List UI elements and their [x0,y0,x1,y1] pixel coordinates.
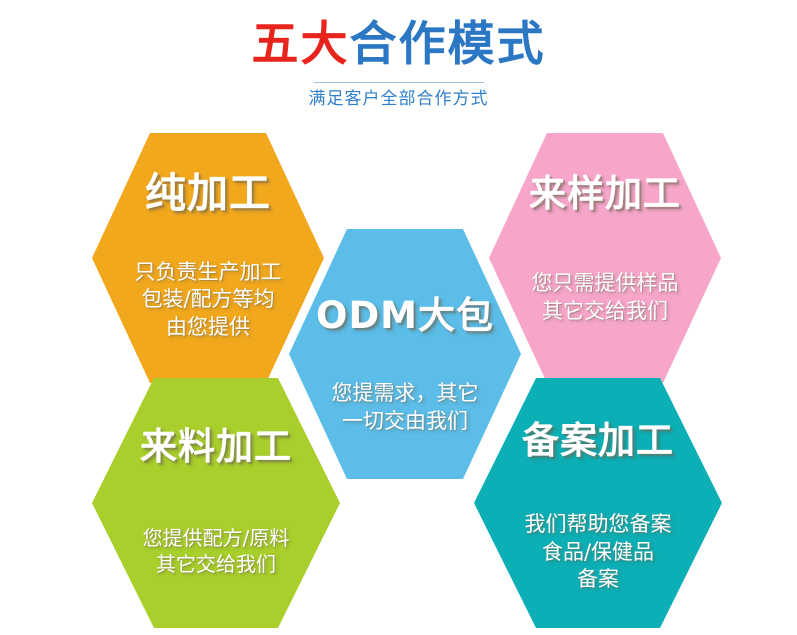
page-title-rest: 合作模式 [350,17,546,72]
hex-title-record-filing-processing: 备案加工 [522,420,674,461]
hex-title-material-processing: 来料加工 [140,426,292,467]
hex-body-line: 只负责生产加工 [135,259,282,286]
hex-body-line: 您提需求，其它 [332,380,479,407]
hex-body-pure-processing: 只负责生产加工 包装/配方等均 由您提供 [135,259,282,341]
hex-body-line: 一切交由我们 [332,408,479,435]
hex-card-material-processing[interactable]: 来料加工 您提供配方/原料 其它交给我们 [92,378,340,628]
infographic-canvas: 五大合作模式 满足客户全部合作方式 纯加工 只负责生产加工 包装/配方等均 由您… [0,0,797,635]
hex-body-line: 食品/保健品 [525,539,672,566]
title-divider [314,82,484,83]
hex-card-sample-processing[interactable]: 来样加工 您只需提供样品 其它交给我们 [489,133,721,383]
hex-body-line: 我们帮助您备案 [525,511,672,538]
hex-body-line: 您只需提供样品 [532,270,679,297]
header: 五大合作模式 满足客户全部合作方式 [0,0,797,111]
hex-body-line: 由您提供 [135,314,282,341]
hex-body-line: 包装/配方等均 [135,286,282,313]
hex-body-record-filing-processing: 我们帮助您备案 食品/保健品 备案 [525,511,672,593]
hex-title-odm-full-package: ODM大包 [316,295,494,336]
hex-body-line: 您提供配方/原料 [143,525,290,551]
hex-body-line: 其它交给我们 [143,551,290,577]
hex-body-odm-full-package: 您提需求，其它 一切交由我们 [332,380,479,435]
page-title: 五大合作模式 [0,0,797,76]
hex-card-odm-full-package[interactable]: ODM大包 您提需求，其它 一切交由我们 [289,229,521,479]
hex-body-material-processing: 您提供配方/原料 其它交给我们 [143,525,290,577]
page-subtitle: 满足客户全部合作方式 [0,87,797,111]
hex-title-pure-processing: 纯加工 [145,171,271,217]
page-title-highlight: 五大 [252,17,350,72]
hex-body-sample-processing: 您只需提供样品 其它交给我们 [532,270,679,325]
hex-body-line: 其它交给我们 [532,298,679,325]
hex-card-record-filing-processing[interactable]: 备案加工 我们帮助您备案 食品/保健品 备案 [474,378,722,628]
hex-card-pure-processing[interactable]: 纯加工 只负责生产加工 包装/配方等均 由您提供 [92,133,324,383]
hex-body-line: 备案 [525,566,672,593]
hex-title-sample-processing: 来样加工 [529,173,681,214]
